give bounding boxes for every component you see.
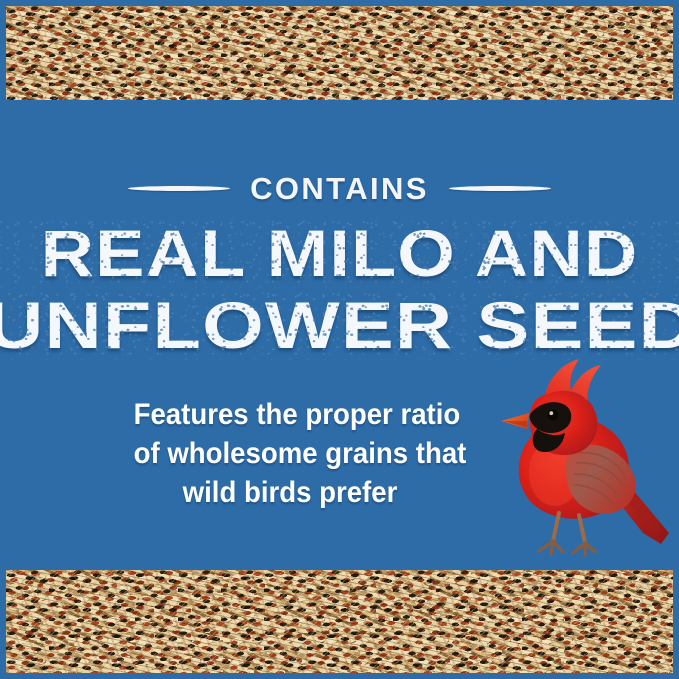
panel-content: CONTAINS REAL MILO AND SUNFLOWER SEEDS F… — [0, 100, 679, 570]
eyebrow: CONTAINS — [0, 173, 679, 204]
headline-line-1: REAL MILO AND — [0, 220, 679, 286]
body-copy-line-1: Features the proper ratio — [134, 395, 447, 434]
seed-mix-texture-bottom — [6, 570, 673, 673]
northern-cardinal-icon — [493, 355, 673, 570]
body-copy-line-2: of wholesome grains that — [134, 434, 447, 473]
divider-rule-left — [128, 185, 230, 192]
eyebrow-label: CONTAINS — [250, 173, 429, 204]
divider-rule-right — [449, 185, 551, 192]
body-copy-line-3: wild birds prefer — [134, 473, 447, 512]
headline-line-2: SUNFLOWER SEEDS — [0, 292, 679, 358]
headline: REAL MILO AND SUNFLOWER SEEDS — [0, 220, 679, 358]
product-feature-panel: CONTAINS REAL MILO AND SUNFLOWER SEEDS F… — [0, 0, 679, 679]
body-copy: Features the proper ratio of wholesome g… — [120, 395, 460, 512]
seed-mix-texture-top — [6, 6, 673, 100]
